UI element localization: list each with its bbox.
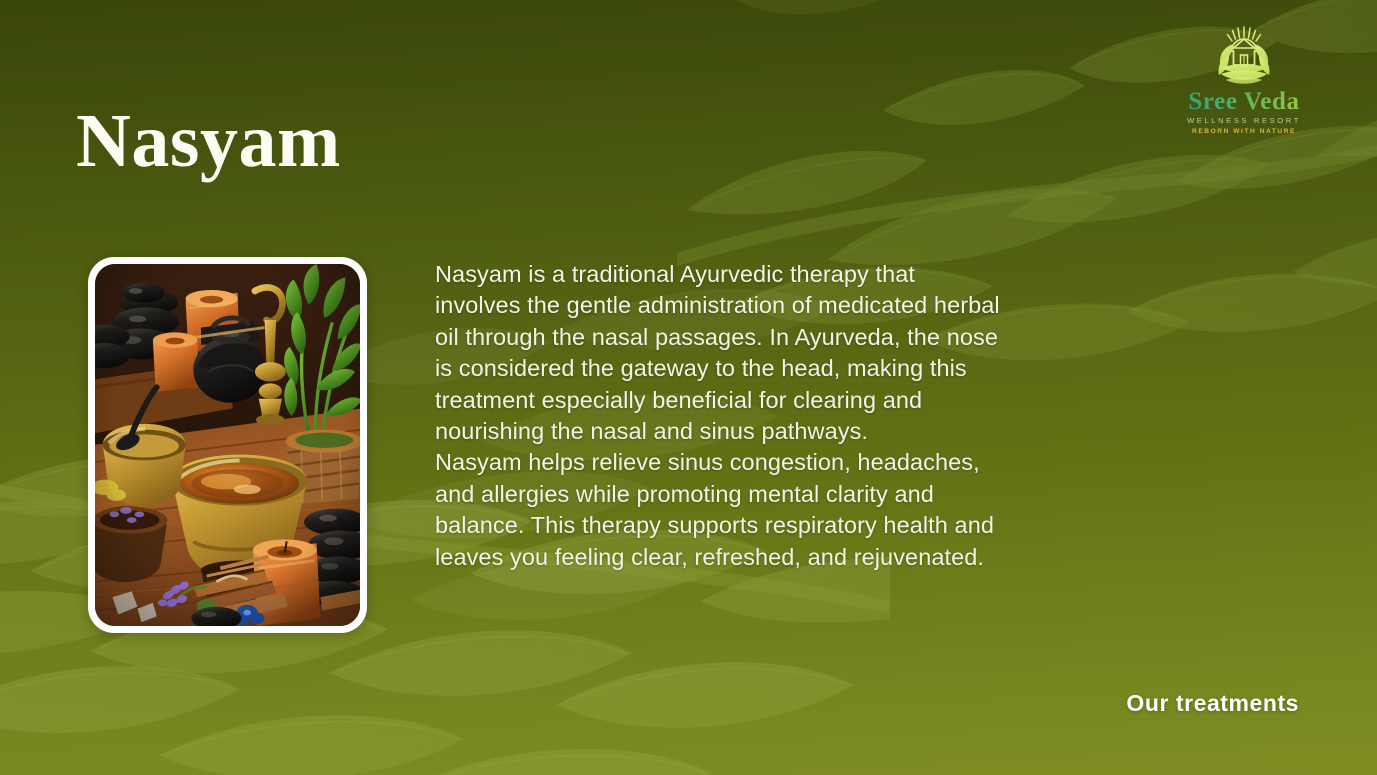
slide-canvas: Sree Veda WELLNESS RESORT REBORN WITH NA… — [0, 0, 1377, 775]
logo-brand-name: Sree Veda — [1169, 89, 1319, 114]
brand-logo[interactable]: Sree Veda WELLNESS RESORT REBORN WITH NA… — [1169, 24, 1319, 135]
logo-subtitle: WELLNESS RESORT — [1169, 117, 1319, 125]
footer-section-label: Our treatments — [1126, 690, 1299, 717]
treatment-photo — [95, 264, 360, 626]
description-paragraph-2: Nasyam helps relieve sinus congestion, h… — [435, 447, 1005, 573]
treatment-description: Nasyam is a traditional Ayurvedic therap… — [435, 259, 1005, 573]
logo-tagline: REBORN WITH NATURE — [1169, 129, 1319, 136]
treatment-photo-card — [88, 257, 367, 633]
description-paragraph-1: Nasyam is a traditional Ayurvedic therap… — [435, 259, 1005, 447]
page-title: Nasyam — [76, 103, 341, 179]
sree-veda-emblem-icon — [1212, 24, 1276, 86]
ayurveda-spa-photo-illustration — [95, 264, 360, 626]
